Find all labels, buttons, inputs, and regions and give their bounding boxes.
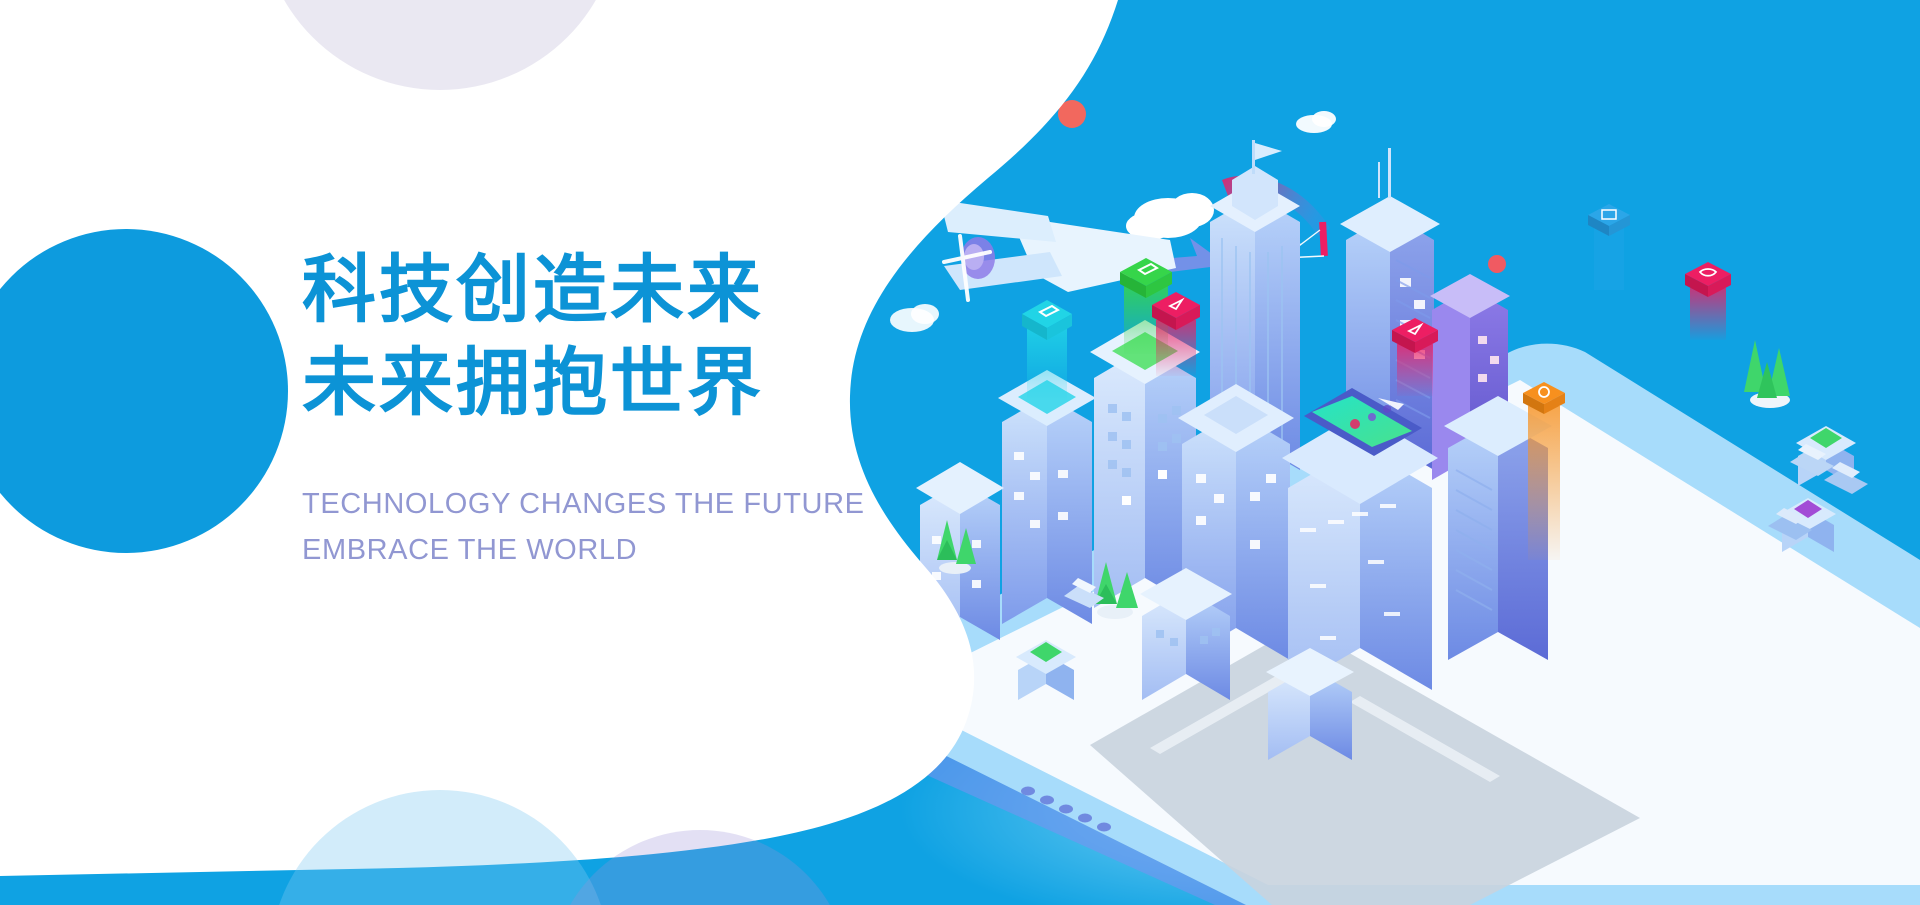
app-icon-send-group	[1152, 292, 1200, 376]
banner-artwork	[0, 0, 1920, 905]
subtitle-block: TECHNOLOGY CHANGES THE FUTURE EMBRACE TH…	[302, 481, 942, 573]
subtitle-line-1: TECHNOLOGY CHANGES THE FUTURE	[302, 481, 942, 527]
subtitle-line-2: EMBRACE THE WORLD	[302, 527, 942, 573]
red-dot-right	[1488, 255, 1506, 273]
app-icon-calculator-group	[1588, 204, 1630, 290]
app-icon-send-right-group	[1392, 318, 1438, 396]
app-icon-phone-group	[1685, 262, 1731, 340]
hero-banner: 科技创造未来 未来拥抱世界 TECHNOLOGY CHANGES THE FUT…	[0, 0, 1920, 905]
app-icon-chat-group	[1022, 300, 1072, 400]
app-icon-camera-group	[1523, 382, 1565, 560]
headline-block: 科技创造未来 未来拥抱世界 TECHNOLOGY CHANGES THE FUT…	[302, 243, 942, 573]
headline-line-2: 未来拥抱世界	[302, 336, 942, 429]
headline-line-1: 科技创造未来	[302, 243, 942, 336]
